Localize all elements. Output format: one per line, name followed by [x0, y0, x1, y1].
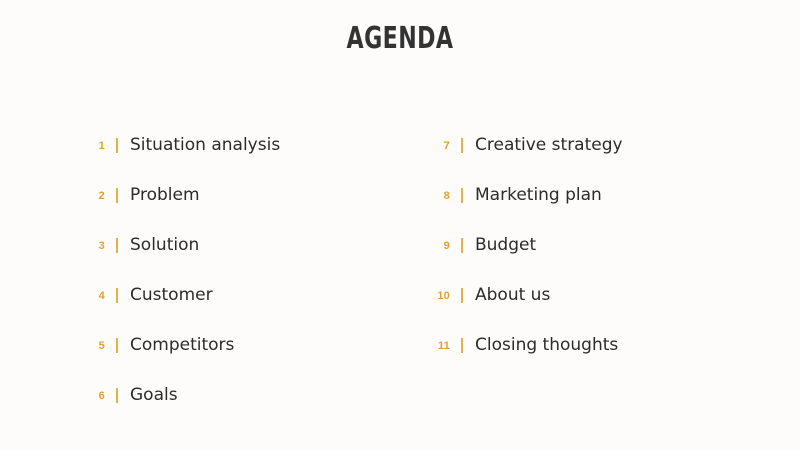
divider-bar-icon	[461, 288, 463, 303]
list-item[interactable]: 10 About us	[428, 270, 773, 320]
list-item[interactable]: 6 Goals	[83, 370, 428, 420]
divider-bar-icon	[116, 238, 118, 253]
item-number: 10	[428, 291, 450, 302]
agenda-list: 1 Situation analysis 2 Problem 3 Solutio…	[0, 120, 800, 420]
divider-bar-icon	[461, 338, 463, 353]
agenda-column-right: 7 Creative strategy 8 Marketing plan 9 B…	[428, 120, 773, 420]
divider-bar-icon	[116, 188, 118, 203]
page-title: AGENDA	[72, 24, 728, 54]
item-label: Closing thoughts	[475, 337, 618, 354]
item-number: 11	[428, 341, 450, 352]
item-label: Solution	[130, 237, 199, 254]
divider-bar-icon	[116, 338, 118, 353]
list-item[interactable]: 4 Customer	[83, 270, 428, 320]
item-label: Marketing plan	[475, 187, 602, 204]
divider-bar-icon	[461, 188, 463, 203]
item-label: Budget	[475, 237, 536, 254]
divider-bar-icon	[116, 288, 118, 303]
item-label: Problem	[130, 187, 200, 204]
item-label: Situation analysis	[130, 137, 280, 154]
item-label: Creative strategy	[475, 137, 623, 154]
list-item[interactable]: 2 Problem	[83, 170, 428, 220]
list-item[interactable]: 7 Creative strategy	[428, 120, 773, 170]
item-number: 4	[83, 291, 105, 302]
agenda-slide: AGENDA 1 Situation analysis 2 Problem 3 …	[0, 0, 800, 450]
list-item[interactable]: 9 Budget	[428, 220, 773, 270]
divider-bar-icon	[461, 238, 463, 253]
item-number: 9	[428, 241, 450, 252]
divider-bar-icon	[116, 388, 118, 403]
item-number: 5	[83, 341, 105, 352]
agenda-column-left: 1 Situation analysis 2 Problem 3 Solutio…	[83, 120, 428, 420]
item-number: 3	[83, 241, 105, 252]
item-label: Competitors	[130, 337, 234, 354]
item-label: About us	[475, 287, 550, 304]
item-number: 6	[83, 391, 105, 402]
list-item[interactable]: 5 Competitors	[83, 320, 428, 370]
list-item[interactable]: 3 Solution	[83, 220, 428, 270]
list-item[interactable]: 11 Closing thoughts	[428, 320, 773, 370]
item-number: 8	[428, 191, 450, 202]
divider-bar-icon	[461, 138, 463, 153]
list-item[interactable]: 1 Situation analysis	[83, 120, 428, 170]
item-number: 2	[83, 191, 105, 202]
list-item[interactable]: 8 Marketing plan	[428, 170, 773, 220]
item-label: Customer	[130, 287, 213, 304]
divider-bar-icon	[116, 138, 118, 153]
item-label: Goals	[130, 387, 178, 404]
item-number: 7	[428, 141, 450, 152]
item-number: 1	[83, 141, 105, 152]
